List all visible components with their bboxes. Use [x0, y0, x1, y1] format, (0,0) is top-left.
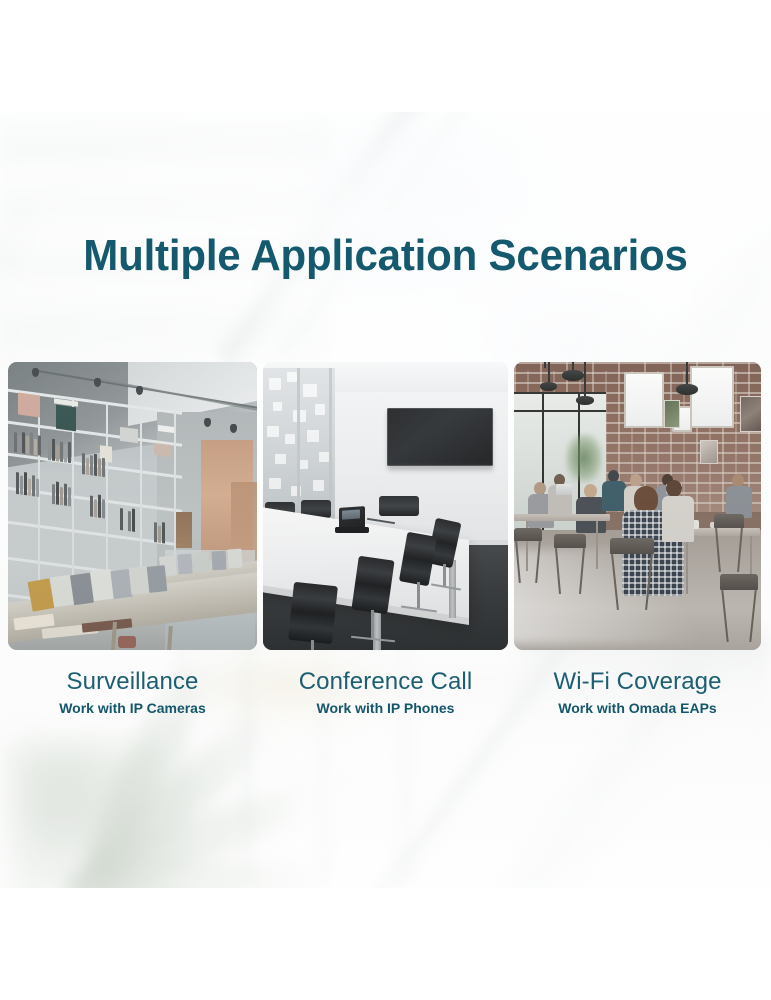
pendant-rod	[544, 362, 546, 368]
scenario-card-wifi-coverage[interactable]	[514, 362, 761, 650]
library-magazine	[212, 551, 227, 571]
cafe-table-leg	[596, 521, 598, 569]
library-photo	[8, 362, 257, 650]
library-shelf-item	[154, 443, 172, 457]
library-shelf-item	[18, 393, 40, 418]
pendant-light	[562, 370, 584, 381]
cafe-wall-art	[700, 440, 718, 464]
library-magazine	[227, 549, 242, 569]
library-spotlight	[204, 418, 211, 427]
library-spotlight	[94, 378, 101, 387]
library-shelf-item	[120, 427, 138, 443]
library-books	[14, 430, 42, 456]
promo-page: Multiple Application Scenarios	[0, 0, 771, 1000]
library-books	[82, 452, 110, 478]
page-title: Multiple Application Scenarios	[17, 233, 753, 279]
library-books	[48, 438, 76, 464]
library-magazine	[177, 554, 192, 575]
scenario-card-conference-call[interactable]	[263, 362, 508, 650]
caption-surveillance: Surveillance Work with IP Cameras	[8, 668, 257, 728]
library-books	[16, 470, 46, 498]
library-stool	[176, 512, 192, 548]
pendant-rod	[548, 362, 550, 382]
cafe-window	[690, 366, 734, 428]
caption-title: Wi-Fi Coverage	[514, 668, 761, 696]
scenario-caption-row: Surveillance Work with IP Cameras Confer…	[8, 668, 763, 728]
caption-wifi-coverage: Wi-Fi Coverage Work with Omada EAPs	[514, 668, 761, 728]
caption-subtitle: Work with IP Phones	[263, 698, 508, 719]
cafe-table	[514, 514, 610, 521]
scenario-card-row	[8, 362, 763, 650]
wall-display-shadow	[389, 466, 493, 473]
pendant-rod	[572, 362, 574, 370]
caption-subtitle: Work with Omada EAPs	[514, 698, 761, 719]
scenario-card-surveillance[interactable]	[8, 362, 257, 650]
cafe-photo	[514, 362, 761, 650]
conference-glass-mullion	[297, 368, 300, 533]
cafe-glass-frame	[514, 410, 606, 412]
library-books	[52, 480, 82, 508]
pendant-rod	[686, 362, 688, 384]
cafe-table-leg	[686, 536, 688, 594]
cafe-glass-frame	[514, 392, 606, 394]
cafe-plant	[566, 434, 602, 482]
pendant-light	[576, 396, 594, 405]
pendant-light	[540, 382, 557, 391]
library-spotlight	[32, 368, 39, 377]
pendant-light	[676, 384, 698, 395]
cafe-wall-art	[740, 396, 761, 432]
ip-conference-phone-base	[335, 527, 369, 533]
library-shelf-item	[56, 405, 76, 432]
caption-subtitle: Work with IP Cameras	[8, 698, 257, 719]
library-spotlight	[230, 424, 237, 433]
library-spotlight	[136, 386, 143, 395]
library-storage-box	[118, 636, 136, 648]
cafe-laptop	[556, 484, 572, 495]
wall-display-screen	[387, 408, 493, 466]
library-books	[86, 492, 116, 520]
library-magazine	[147, 565, 168, 593]
caption-title: Surveillance	[8, 668, 257, 696]
library-books	[120, 506, 150, 534]
cafe-wall-art	[664, 400, 680, 428]
caption-conference-call: Conference Call Work with IP Phones	[263, 668, 508, 728]
library-magazine	[193, 551, 210, 572]
caption-title: Conference Call	[263, 668, 508, 696]
pendant-rod	[584, 362, 586, 396]
cafe-window	[624, 372, 664, 428]
conference-room-photo	[263, 362, 508, 650]
